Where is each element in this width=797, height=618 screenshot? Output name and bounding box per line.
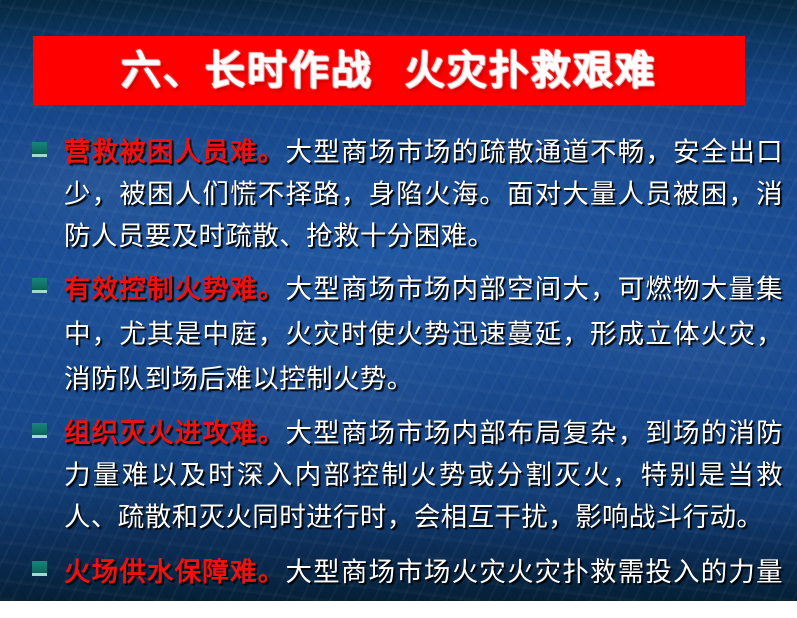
- bullet-paragraph: 有效控制火势难。大型商场市场内部空间大，可燃物大量集中，尤其是中庭，火灾时使火势…: [64, 267, 783, 402]
- slide-bottom-margin: [0, 601, 797, 618]
- bullet-paragraph: 组织灭火进攻难。大型商场市场内部布局复杂，到场的消防力量难以及时深入内部控制火势…: [64, 412, 783, 538]
- title-banner: 六、长时作战 火灾扑救艰难: [33, 36, 745, 105]
- bullet-square-icon: [32, 423, 47, 438]
- presentation-slide: 六、长时作战 火灾扑救艰难 营救被困人员难。大型商场市场的疏散通道不畅，安全出口…: [0, 0, 797, 618]
- bullet-heading: 营救被困人员难。: [64, 137, 285, 167]
- bullet-list: 营救被困人员难。大型商场市场的疏散通道不畅，安全出口少，被困人们慌不择路，身陷火…: [28, 131, 783, 618]
- list-item: 营救被困人员难。大型商场市场的疏散通道不畅，安全出口少，被困人们慌不择路，身陷火…: [28, 131, 783, 257]
- bullet-square-icon: [32, 278, 47, 293]
- bullet-heading: 组织灭火进攻难。: [64, 418, 285, 448]
- bullet-heading: 火场供水保障难。: [64, 557, 285, 587]
- slide-title: 六、长时作战 火灾扑救艰难: [121, 51, 657, 91]
- list-item: 有效控制火势难。大型商场市场内部空间大，可燃物大量集中，尤其是中庭，火灾时使火势…: [28, 267, 783, 402]
- list-item: 组织灭火进攻难。大型商场市场内部布局复杂，到场的消防力量难以及时深入内部控制火势…: [28, 412, 783, 538]
- bullet-square-icon: [32, 142, 47, 157]
- bullet-paragraph: 营救被困人员难。大型商场市场的疏散通道不畅，安全出口少，被困人们慌不择路，身陷火…: [64, 131, 783, 257]
- bullet-square-icon: [32, 561, 47, 576]
- bullet-heading: 有效控制火势难。: [64, 274, 285, 304]
